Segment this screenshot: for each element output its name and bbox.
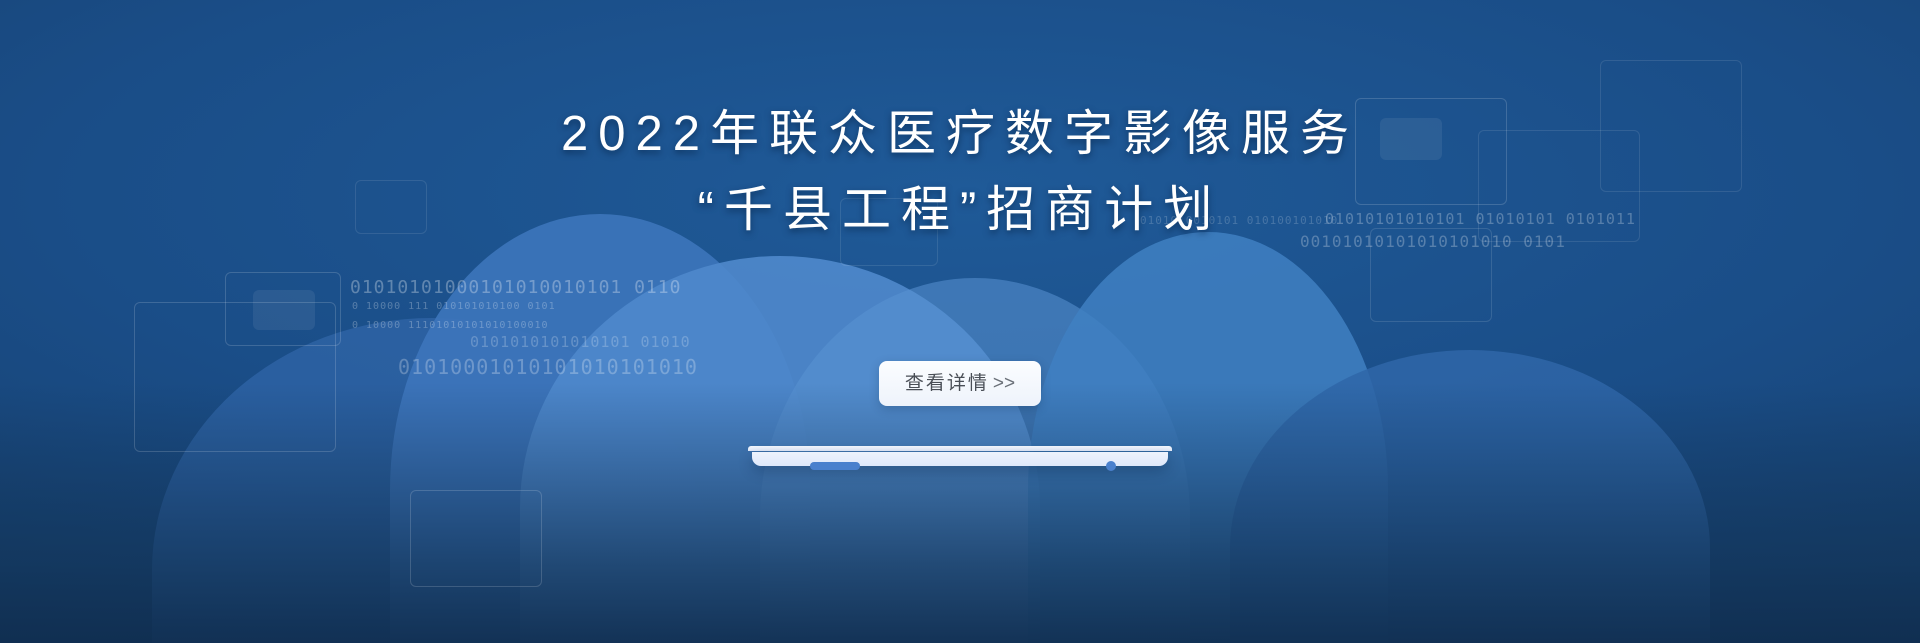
view-details-label: 查看详情	[905, 373, 989, 394]
laptop-base-graphic	[748, 446, 1172, 472]
cloud-haze	[0, 383, 1920, 643]
laptop-lid-edge	[748, 446, 1172, 451]
chevron-right-icon: >>	[993, 373, 1015, 394]
headline-line-1: 2022年联众医疗数字影像服务	[0, 96, 1920, 172]
square-filled-decoration	[253, 290, 315, 330]
laptop-indicator-dot	[1106, 461, 1116, 471]
banner-headline: 2022年联众医疗数字影像服务 “千县工程”招商计划	[0, 96, 1920, 248]
cta-container: 查看详情>>	[0, 361, 1920, 406]
cloud-shape	[390, 214, 810, 643]
binary-text-decoration: 0 10000 11101010101010100010	[352, 320, 549, 331]
binary-text-decoration: 01010101000101010010101 0110	[350, 277, 681, 298]
binary-text-decoration: 0101010101010101 01010	[470, 333, 691, 351]
laptop-indicator-bar	[810, 462, 860, 470]
promo-banner: 01010101000101010010101 0110 0 10000 111…	[0, 0, 1920, 643]
square-outline-decoration	[410, 490, 542, 587]
binary-text-decoration: 0 10000 111 010101010100 0101	[352, 301, 556, 312]
laptop-body	[752, 452, 1168, 466]
square-outline-decoration	[225, 272, 341, 346]
cloud-shape	[1028, 232, 1388, 643]
headline-line-2: “千县工程”招商计划	[0, 172, 1920, 248]
view-details-button[interactable]: 查看详情>>	[879, 361, 1041, 406]
